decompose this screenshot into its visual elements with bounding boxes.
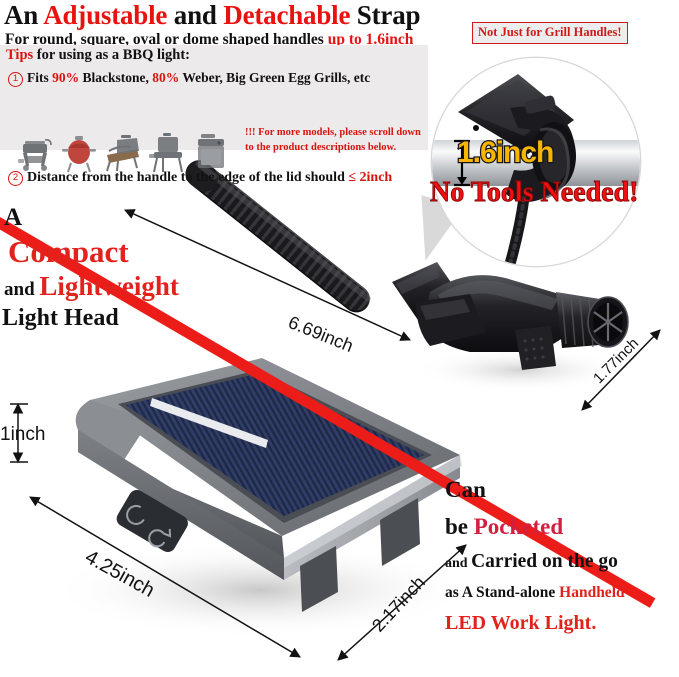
- right-copy-standalone: as A Stand-alone: [445, 584, 559, 601]
- tip-2-b: ≤ 2inch: [348, 170, 392, 185]
- tip-1-c: Weber, Big Green Egg Grills, etc: [179, 70, 370, 85]
- tip-1-b: Blackstone,: [79, 70, 152, 85]
- left-copy-light-head: Light Head: [2, 306, 232, 330]
- dimension-label-width: 2.17inch: [368, 572, 430, 636]
- portable-charcoal-grill-icon: [103, 131, 141, 173]
- grill-type-icons: [18, 127, 228, 173]
- title-red-detachable: Detachable: [223, 0, 350, 30]
- tip-1-pct-weber: 80%: [152, 70, 179, 85]
- infographic-canvas: 1.6inch No Tools Needed! An Adjustable a…: [0, 0, 679, 677]
- not-just-grill-handles-badge: Not Just for Grill Handles!: [472, 22, 628, 44]
- right-copy-can: Can: [445, 478, 679, 501]
- right-copy-carried: and Carried on the go: [445, 552, 679, 572]
- tips-title-rest: for using as a BBQ light:: [33, 47, 190, 63]
- cabinet-gas-grill-icon: [194, 131, 228, 173]
- right-copy-handheld: as A Stand-alone Handheld: [445, 585, 679, 601]
- dimension-label-height: 1inch: [0, 424, 45, 446]
- tip-2-a: Distance from the handle to the edge of …: [27, 170, 348, 185]
- right-copy-and: and: [445, 556, 471, 571]
- barrel-grill-icon: [149, 131, 187, 173]
- tip-1-pct-blackstone: 90%: [52, 70, 79, 85]
- tips-panel-title: Tips for using as a BBQ light:: [6, 47, 190, 64]
- right-copy-be: be: [445, 514, 474, 539]
- right-copy-led-work-light: LED Work Light.: [445, 613, 679, 633]
- title-red-adjustable: Adjustable: [43, 0, 167, 30]
- tips-panel: Tips for using as a BBQ light: 1Fits 90%…: [0, 45, 428, 150]
- title-part-2: and: [167, 0, 223, 30]
- tips-label: Tips: [6, 47, 33, 63]
- tip-item-2: 2Distance from the handle to the edge of…: [8, 170, 392, 186]
- title-part-1: An: [4, 0, 43, 30]
- right-copy-pocketed: be Pocketed: [445, 515, 679, 538]
- left-copy-and: and: [4, 279, 39, 300]
- tip-1-number: 1: [8, 72, 23, 87]
- left-copy-lightweight: and Lightweight: [4, 273, 232, 300]
- tip-item-1: 1Fits 90% Blackstone, 80% Weber, Big Gre…: [8, 70, 370, 87]
- left-marketing-copy: A Compact and Lightweight Light Head: [2, 205, 232, 330]
- left-copy-lightweight-word: Lightweight: [39, 271, 179, 301]
- tip-1-a: Fits: [27, 70, 52, 85]
- inset-dimension-label: 1.6inch: [457, 136, 553, 170]
- right-copy-handheld-word: Handheld: [559, 584, 624, 601]
- left-copy-line-1: A: [4, 205, 232, 230]
- tip-2-number: 2: [8, 171, 23, 186]
- dimension-label-clamp: 1.77inch: [590, 335, 642, 387]
- kamado-grill-icon: [62, 131, 96, 173]
- page-title: An Adjustable and Detachable Strap: [4, 1, 474, 29]
- gas-grill-icon: [18, 131, 54, 173]
- right-copy-pocketed-word: Pocketed: [474, 514, 563, 539]
- left-copy-compact: Compact: [8, 236, 232, 267]
- right-copy-carried-phrase: Carried on the go: [471, 551, 618, 572]
- no-tools-needed-callout: No Tools Needed!: [430, 177, 638, 209]
- more-models-note: !!! For more models, please scroll down …: [245, 125, 423, 155]
- right-marketing-copy: Can be Pocketed and Carried on the go as…: [445, 478, 679, 633]
- dimension-label-length: 4.25inch: [81, 546, 158, 603]
- title-part-3: Strap: [350, 0, 420, 30]
- dimension-label-gooseneck: 6.69inch: [285, 312, 356, 357]
